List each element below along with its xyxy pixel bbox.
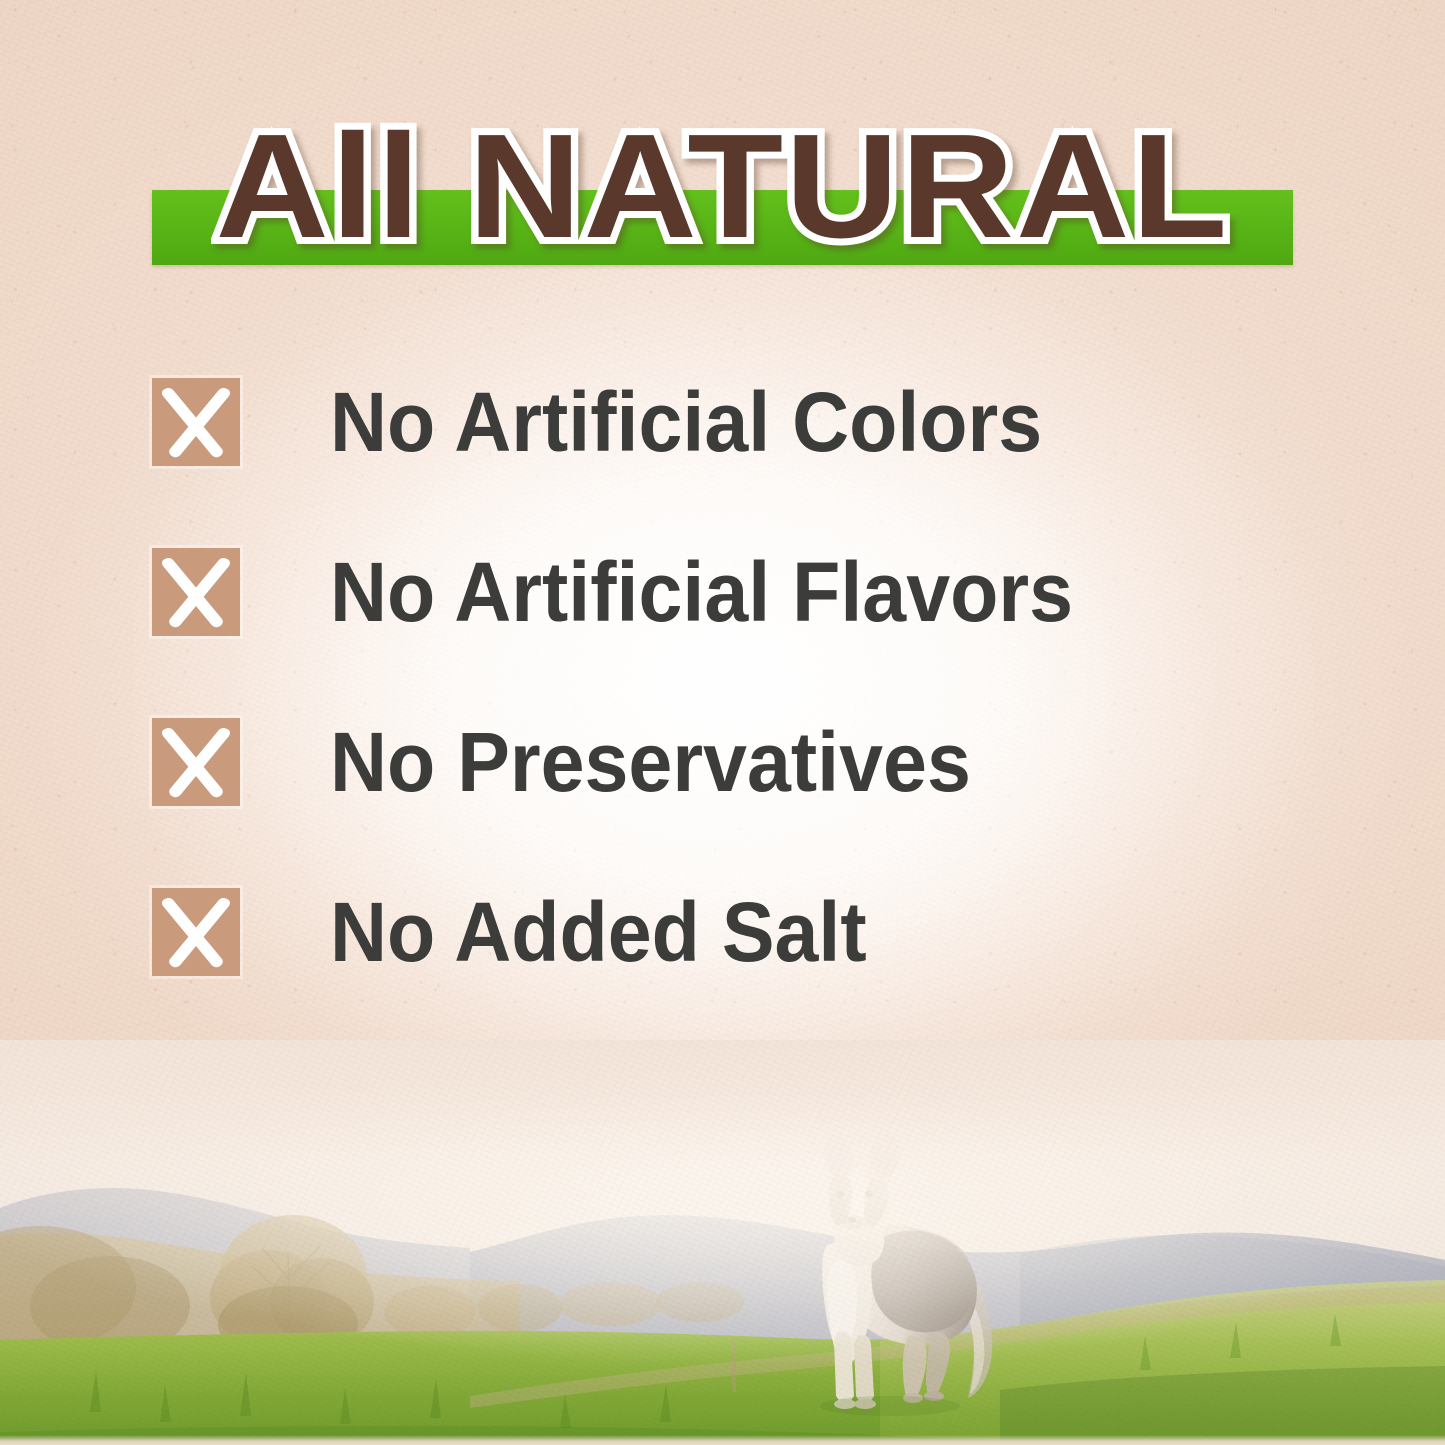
feature-label: No Artificial Flavors bbox=[330, 548, 1073, 636]
feature-list: No Artificial Colors No Artificial Flavo… bbox=[152, 378, 1352, 1058]
list-item: No Artificial Colors bbox=[152, 378, 1352, 466]
x-mark-icon bbox=[152, 548, 240, 636]
list-item: No Artificial Flavors bbox=[152, 548, 1352, 636]
x-mark-icon bbox=[152, 378, 240, 466]
list-item: No Preservatives bbox=[152, 718, 1352, 806]
page-title: All NATURAL bbox=[0, 112, 1445, 262]
feature-label: No Preservatives bbox=[330, 718, 971, 806]
x-mark-icon bbox=[152, 718, 240, 806]
x-mark-icon bbox=[152, 888, 240, 976]
list-item: No Added Salt bbox=[152, 888, 1352, 976]
feature-label: No Added Salt bbox=[330, 888, 867, 976]
dog-in-meadow-photo bbox=[0, 1040, 1445, 1445]
product-feature-graphic: All NATURAL No Artificial Colors No Arti… bbox=[0, 0, 1445, 1445]
feature-label: No Artificial Colors bbox=[330, 378, 1042, 466]
headline-banner: All NATURAL bbox=[0, 0, 1445, 300]
